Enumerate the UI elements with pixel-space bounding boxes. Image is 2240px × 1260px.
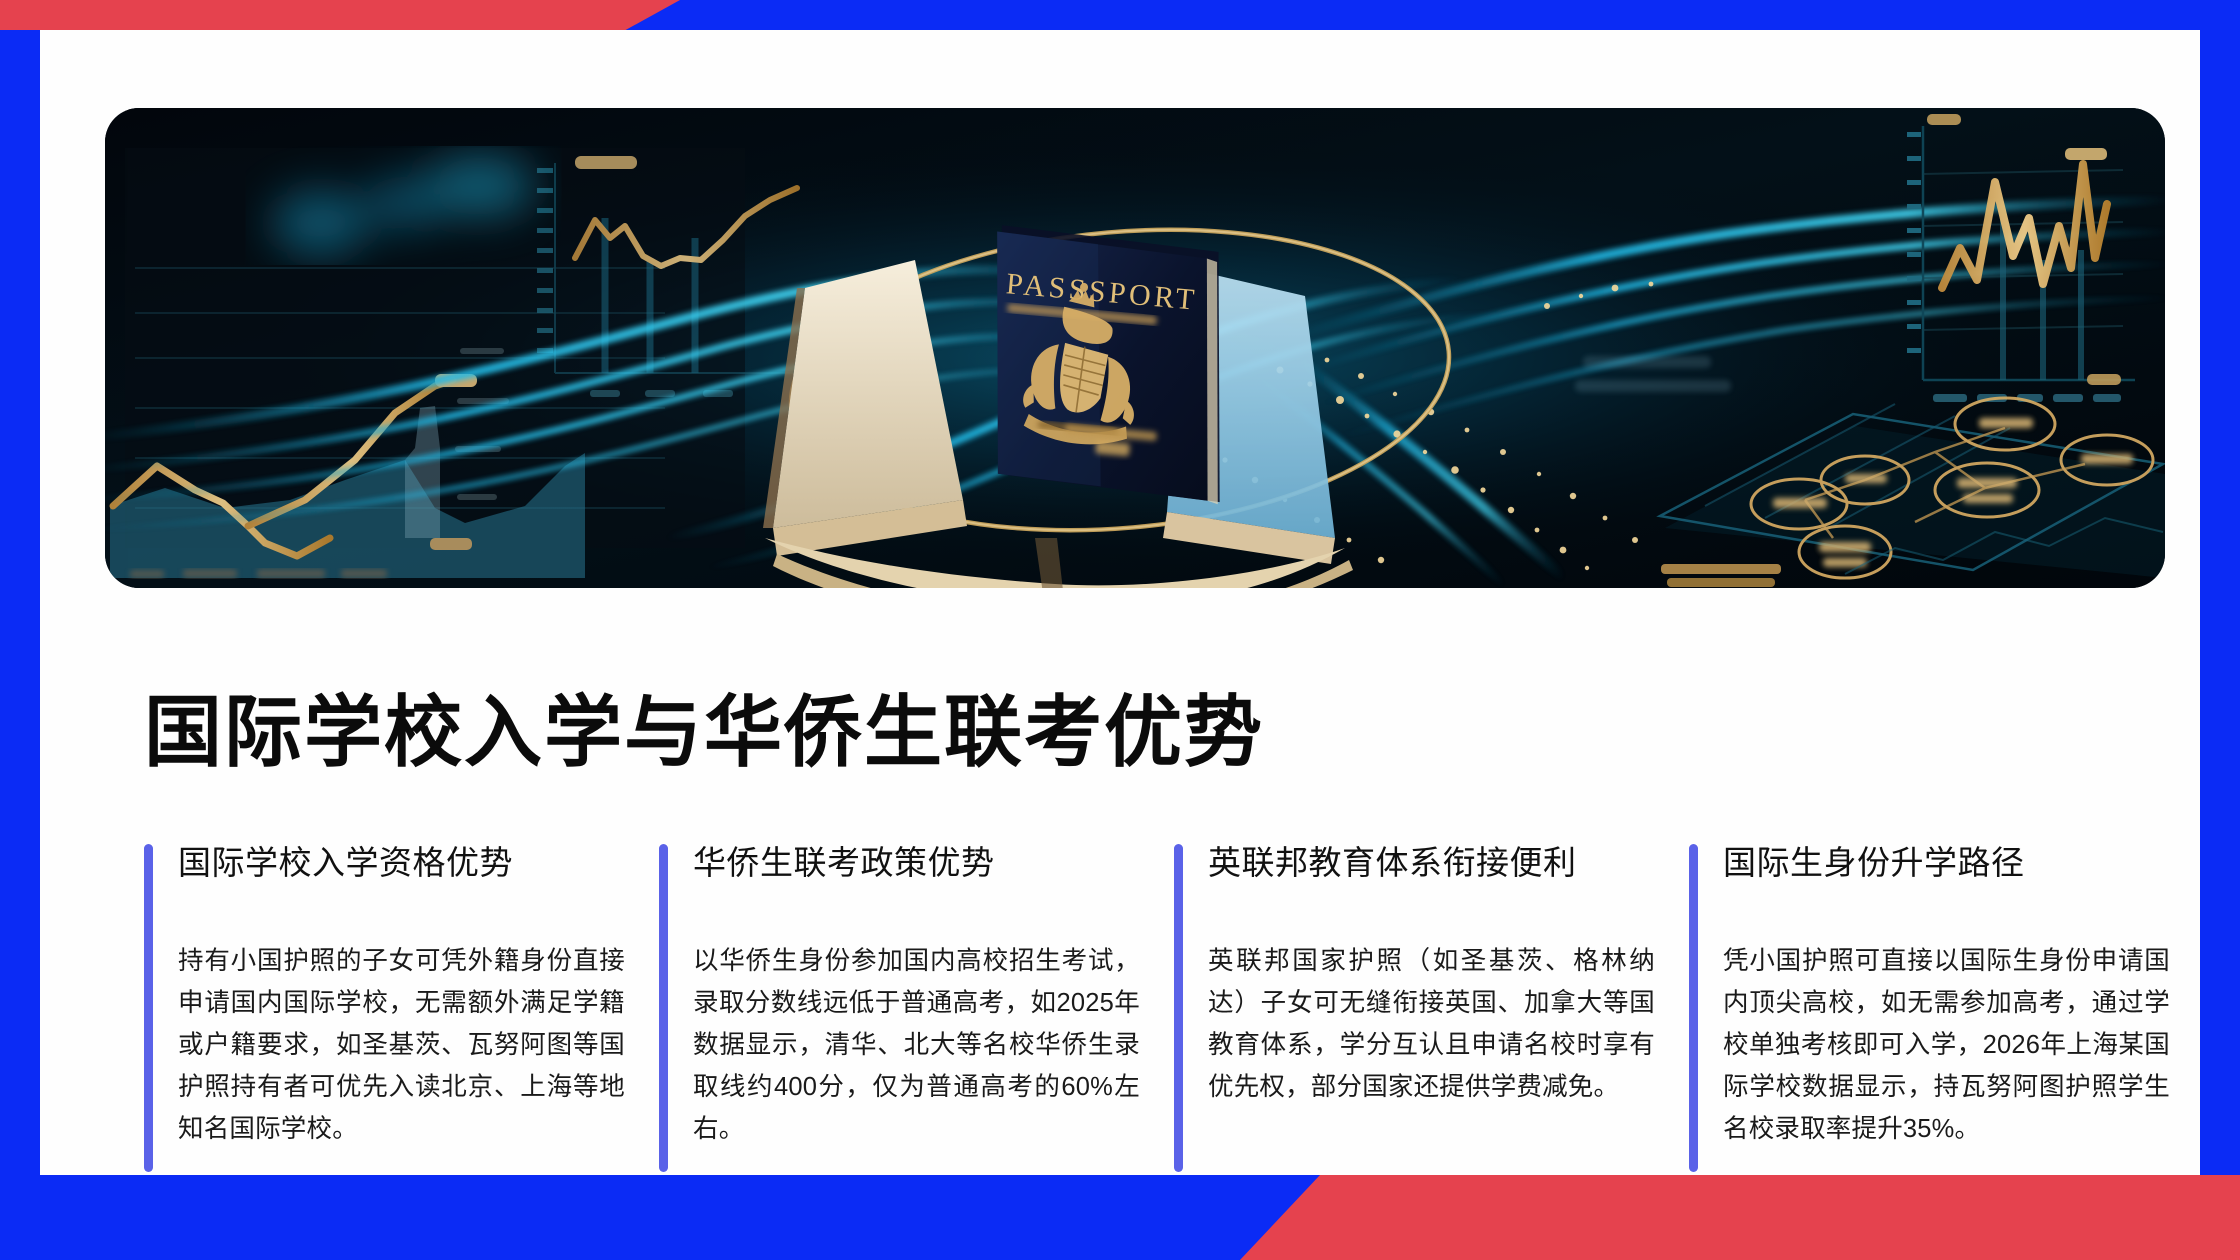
accent-bar-icon — [144, 844, 153, 1172]
column-body: 以华侨生身份参加国内高校招生考试，录取分数线远低于普通高考，如2025年数据显示… — [693, 941, 1140, 1150]
column-heading: 国际学校入学资格优势 — [178, 842, 625, 883]
accent-bar-icon — [1689, 844, 1698, 1172]
feature-column-3: 英联邦教育体系衔接便利 英联邦国家护照（如圣基茨、格林纳达）子女可无缝衔接英国、… — [1170, 842, 1655, 1174]
column-body: 凭小国护照可直接以国际生身份申请国内顶尖高校，如无需参加高考，通过学校单独考核即… — [1723, 941, 2170, 1150]
bottom-decorative-band — [0, 1175, 2240, 1260]
page-card: PASSSPORT — [40, 30, 2200, 1175]
accent-bar-icon — [1174, 844, 1183, 1172]
bottom-red-wedge — [1240, 1175, 2240, 1260]
top-red-wedge — [0, 0, 680, 30]
feature-columns: 国际学校入学资格优势 持有小国护照的子女可凭外籍身份直接申请国内国际学校，无需额… — [140, 842, 2170, 1174]
hero-banner-image: PASSSPORT — [105, 108, 2165, 588]
column-body: 持有小国护照的子女可凭外籍身份直接申请国内国际学校，无需额外满足学籍或户籍要求，… — [178, 941, 625, 1150]
feature-column-1: 国际学校入学资格优势 持有小国护照的子女可凭外籍身份直接申请国内国际学校，无需额… — [140, 842, 625, 1174]
feature-column-2: 华侨生联考政策优势 以华侨生身份参加国内高校招生考试，录取分数线远低于普通高考，… — [655, 842, 1140, 1174]
column-heading: 英联邦教育体系衔接便利 — [1208, 842, 1655, 883]
feature-column-4: 国际生身份升学路径 凭小国护照可直接以国际生身份申请国内顶尖高校，如无需参加高考… — [1685, 842, 2170, 1174]
hero-illustration: PASSSPORT — [105, 108, 2165, 588]
accent-bar-icon — [659, 844, 668, 1172]
page-title: 国际学校入学与华侨生联考优势 — [144, 670, 1264, 782]
column-body: 英联邦国家护照（如圣基茨、格林纳达）子女可无缝衔接英国、加拿大等国教育体系，学分… — [1208, 941, 1655, 1108]
top-decorative-band — [0, 0, 2240, 30]
column-heading: 华侨生联考政策优势 — [693, 842, 1140, 883]
column-heading: 国际生身份升学路径 — [1723, 842, 2170, 883]
